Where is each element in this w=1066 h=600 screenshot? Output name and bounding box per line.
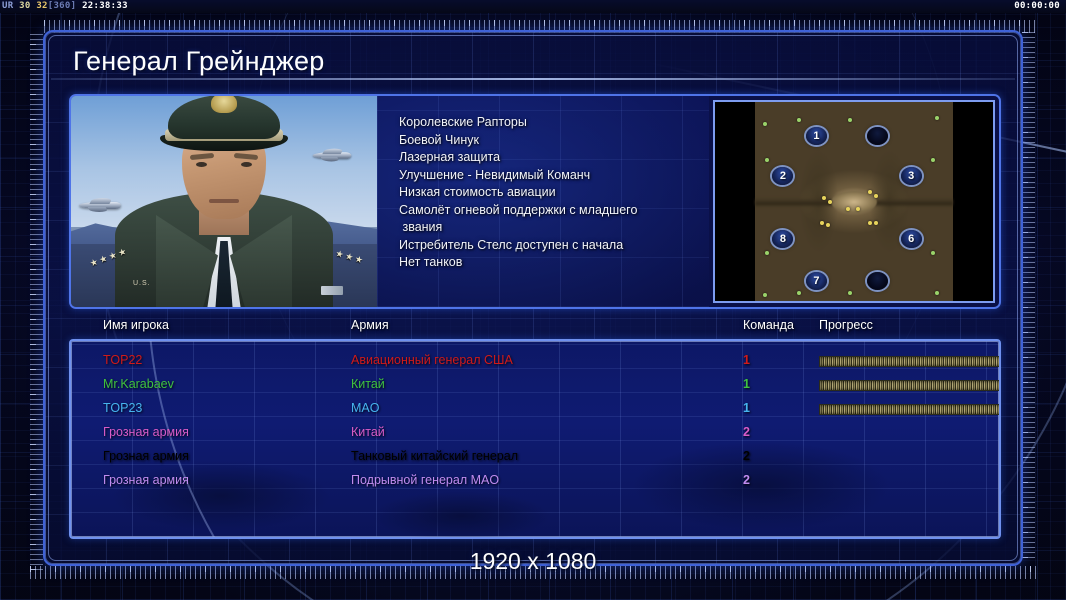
minimap-start-position[interactable]: 1 — [806, 127, 827, 145]
player-army: Авиационный генерал США — [351, 353, 513, 367]
minimap-start-position[interactable]: 6 — [901, 230, 922, 248]
table-row[interactable]: Грозная армияПодрывной генерал MAO2 — [71, 470, 999, 494]
general-info-row: ★★★★ ★★★ U.S. Королевские РапторыБоевой … — [69, 94, 1001, 309]
status-bar: UR 30 32[360] 22:38:33 00:00:00 — [0, 0, 1066, 13]
minimap-tech-building-icon — [797, 291, 801, 295]
minimap-tech-building-icon — [848, 291, 852, 295]
minimap-container: 123867 — [709, 96, 999, 307]
table-header-row: Имя игрока Армия Команда Прогресс — [71, 318, 1001, 340]
status-left-clock: 22:38:33 — [82, 1, 128, 11]
table-row[interactable]: Грозная армияТанковый китайский генерал2 — [71, 446, 999, 470]
minimap-start-position[interactable] — [867, 272, 888, 290]
portrait-eye-left — [196, 162, 207, 167]
player-team: 1 — [743, 401, 750, 415]
column-header-name: Имя игрока — [103, 318, 169, 332]
resolution-label: 1920 x 1080 — [0, 548, 1066, 575]
column-header-army: Армия — [351, 318, 389, 332]
minimap-terrain: 123867 — [755, 102, 952, 301]
column-header-progress: Прогресс — [819, 318, 873, 332]
portrait-eye-right — [241, 162, 252, 167]
player-name: TOP22 — [103, 353, 142, 367]
general-portrait: ★★★★ ★★★ U.S. — [71, 96, 377, 307]
ability-line: Лазерная защита — [399, 149, 699, 167]
minimap-tech-building-icon — [765, 158, 769, 162]
minimap-tech-building-icon — [848, 118, 852, 122]
portrait-mouth — [209, 199, 239, 203]
player-name: Грозная армия — [103, 449, 189, 463]
minimap-start-position[interactable]: 7 — [806, 272, 827, 290]
status-num1: 30 — [19, 1, 30, 11]
minimap-supply-icon — [874, 194, 878, 198]
minimap-tech-building-icon — [797, 118, 801, 122]
title-bar: Генерал Грейнджер — [45, 34, 1021, 82]
table-row[interactable]: TOP22Авиационный генерал США1 — [71, 350, 999, 374]
player-team: 2 — [743, 449, 750, 463]
ability-line: Улучшение - Невидимый Команч — [399, 167, 699, 185]
player-army: Подрывной генерал MAO — [351, 473, 499, 487]
minimap-tech-building-icon — [931, 251, 935, 255]
status-right-clock: 00:00:00 — [1014, 1, 1060, 11]
us-insignia: U.S. — [133, 280, 151, 287]
ability-line: Королевские Рапторы — [399, 114, 699, 132]
minimap-supply-icon — [828, 200, 832, 204]
player-progress-bar — [819, 356, 1001, 367]
ability-line: Самолёт огневой поддержки с младшего — [399, 202, 699, 220]
minimap-start-position[interactable]: 8 — [772, 230, 793, 248]
player-team: 2 — [743, 473, 750, 487]
table-row[interactable]: Грозная армияКитай2 — [71, 422, 999, 446]
player-team: 1 — [743, 353, 750, 367]
status-tag: UR — [2, 1, 13, 11]
minimap-tech-building-icon — [931, 158, 935, 162]
page-title: Генерал Грейнджер — [73, 46, 324, 77]
ruler-left — [30, 30, 43, 570]
player-army: Китай — [351, 425, 385, 439]
minimap-tech-building-icon — [935, 116, 939, 120]
game-lobby-screen: UR 30 32[360] 22:38:33 00:00:00 Генерал … — [0, 0, 1066, 600]
player-progress-bar — [819, 380, 1001, 391]
table-row[interactable]: Mr.KarabaevКитай1 — [71, 374, 999, 398]
player-progress-bar — [819, 404, 1001, 415]
service-ribbon-icon — [321, 286, 343, 295]
ability-line: Истребитель Стелс доступен с начала — [399, 237, 699, 255]
player-team: 2 — [743, 425, 750, 439]
minimap[interactable]: 123867 — [713, 100, 995, 303]
player-army: MAO — [351, 401, 379, 415]
main-panel: Генерал Грейнджер — [43, 30, 1023, 566]
ability-line: Боевой Чинук — [399, 132, 699, 150]
eagle-crest-icon — [211, 96, 237, 113]
minimap-supply-icon — [822, 196, 826, 200]
status-num2: 32 — [36, 1, 47, 11]
player-list-mottle — [371, 491, 551, 539]
ruler-right — [1022, 30, 1035, 558]
minimap-start-position[interactable] — [867, 127, 888, 145]
minimap-tech-building-icon — [763, 122, 767, 126]
column-header-team: Команда — [743, 318, 794, 332]
aircraft-icon — [313, 152, 352, 158]
table-row[interactable]: TOP23MAO1 — [71, 398, 999, 422]
player-army: Танковый китайский генерал — [351, 449, 518, 463]
minimap-supply-icon — [868, 190, 872, 194]
title-separator — [51, 78, 1015, 80]
minimap-tech-building-icon — [935, 291, 939, 295]
minimap-start-position[interactable]: 2 — [772, 167, 793, 185]
player-list: TOP22Авиационный генерал США1Mr.Karabaev… — [69, 339, 1001, 539]
aircraft-icon — [79, 202, 121, 209]
minimap-start-position[interactable]: 3 — [901, 167, 922, 185]
general-abilities-list: Королевские РапторыБоевой ЧинукЛазерная … — [377, 96, 709, 307]
player-army: Китай — [351, 377, 385, 391]
status-bracket: [360] — [48, 1, 77, 11]
player-name: Mr.Karabaev — [103, 377, 174, 391]
minimap-tech-building-icon — [765, 251, 769, 255]
player-name: Грозная армия — [103, 473, 189, 487]
player-name: TOP23 — [103, 401, 142, 415]
ability-line: звания — [399, 219, 699, 237]
status-left-text: UR 30 32[360] 22:38:33 — [2, 1, 128, 11]
player-team: 1 — [743, 377, 750, 391]
ability-line: Нет танков — [399, 254, 699, 272]
player-name: Грозная армия — [103, 425, 189, 439]
minimap-tech-building-icon — [763, 293, 767, 297]
minimap-center-feature — [831, 191, 877, 213]
ability-line: Низкая стоимость авиации — [399, 184, 699, 202]
